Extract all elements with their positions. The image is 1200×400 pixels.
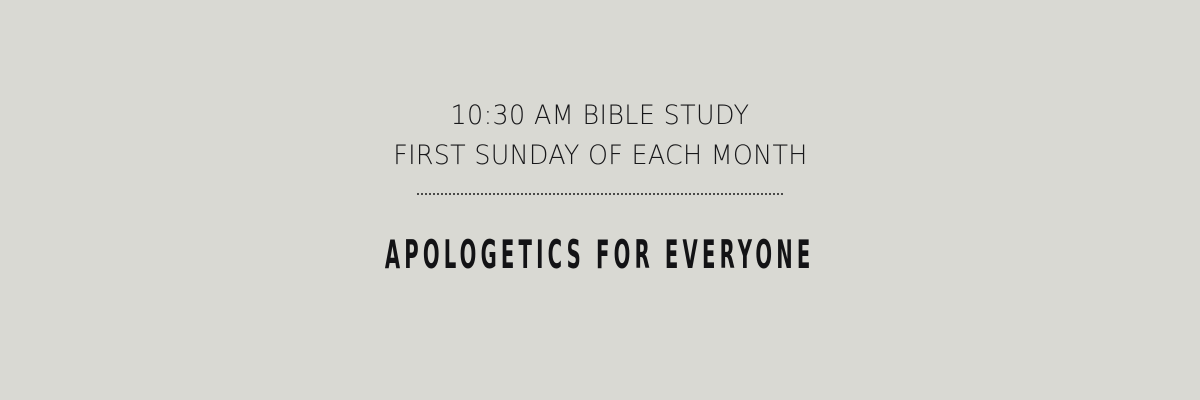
divider-container xyxy=(0,193,1200,195)
schedule-frequency-line: FIRST SUNDAY OF EACH MONTH xyxy=(393,136,807,176)
schedule-time-line: 10:30 AM BIBLE STUDY xyxy=(451,96,750,136)
headline-text: APOLOGETICS FOR EVERYONE xyxy=(385,236,815,276)
schedule-block: 10:30 AM BIBLE STUDY FIRST SUNDAY OF EAC… xyxy=(0,96,1200,176)
headline-container: APOLOGETICS FOR EVERYONE xyxy=(0,236,1200,276)
poster-canvas: 10:30 AM BIBLE STUDY FIRST SUNDAY OF EAC… xyxy=(0,0,1200,400)
dotted-divider xyxy=(417,193,783,195)
